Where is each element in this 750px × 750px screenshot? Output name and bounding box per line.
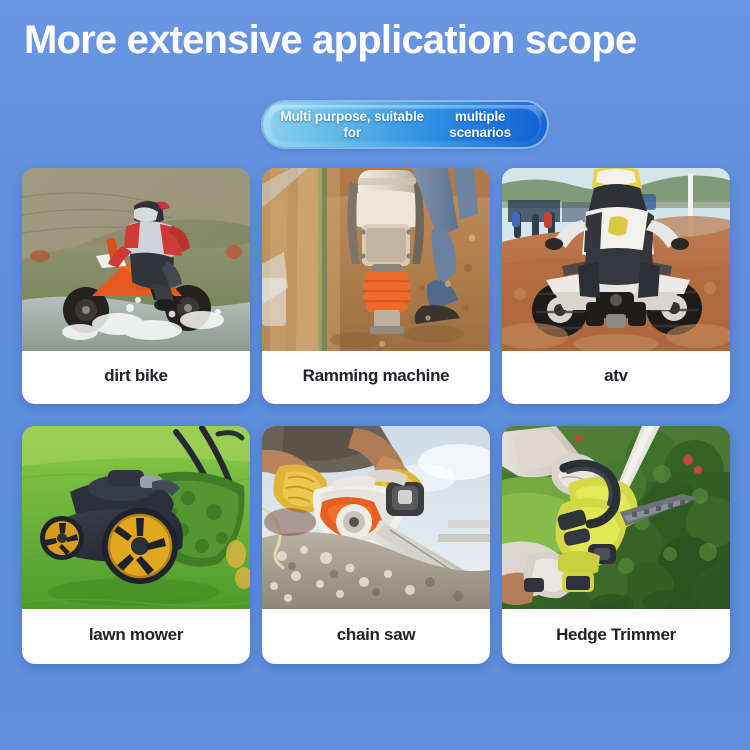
card-dirt-bike[interactable]: dirt bike: [22, 168, 250, 404]
ramming-machine-illustration: [262, 168, 490, 351]
atv-illustration: [502, 168, 730, 351]
card-label: Hedge Trimmer: [502, 609, 730, 664]
application-card-grid: dirt bike: [22, 168, 728, 664]
chain-saw-illustration: [262, 426, 490, 609]
card-hedge-trimmer[interactable]: Hedge Trimmer: [502, 426, 730, 664]
card-ramming-machine[interactable]: Ramming machine: [262, 168, 490, 404]
badge-line-2: multiple scenarios: [427, 109, 533, 139]
badge-line-1: Multi purpose, suitable for: [277, 109, 427, 139]
dirt-bike-illustration: [22, 168, 250, 351]
dirt-bike-photo: [22, 168, 250, 351]
badge-label: Multi purpose, suitable for multiple sce…: [263, 102, 547, 147]
atv-photo: [502, 168, 730, 351]
card-chain-saw[interactable]: chain saw: [262, 426, 490, 664]
card-label: atv: [502, 351, 730, 404]
card-label: dirt bike: [22, 351, 250, 404]
tagline-badge: Multi purpose, suitable for multiple sce…: [263, 102, 547, 147]
card-label: Ramming machine: [262, 351, 490, 404]
lawn-mower-photo: [22, 426, 250, 609]
ramming-machine-photo: [262, 168, 490, 351]
card-atv[interactable]: atv: [502, 168, 730, 404]
chain-saw-photo: [262, 426, 490, 609]
hedge-trimmer-photo: [502, 426, 730, 609]
promo-banner: More extensive application scope Multi p…: [0, 0, 750, 750]
card-label: chain saw: [262, 609, 490, 664]
card-label: lawn mower: [22, 609, 250, 664]
lawn-mower-illustration: [22, 426, 250, 609]
hedge-trimmer-illustration: [502, 426, 730, 609]
card-lawn-mower[interactable]: lawn mower: [22, 426, 250, 664]
page-title: More extensive application scope: [24, 18, 726, 63]
